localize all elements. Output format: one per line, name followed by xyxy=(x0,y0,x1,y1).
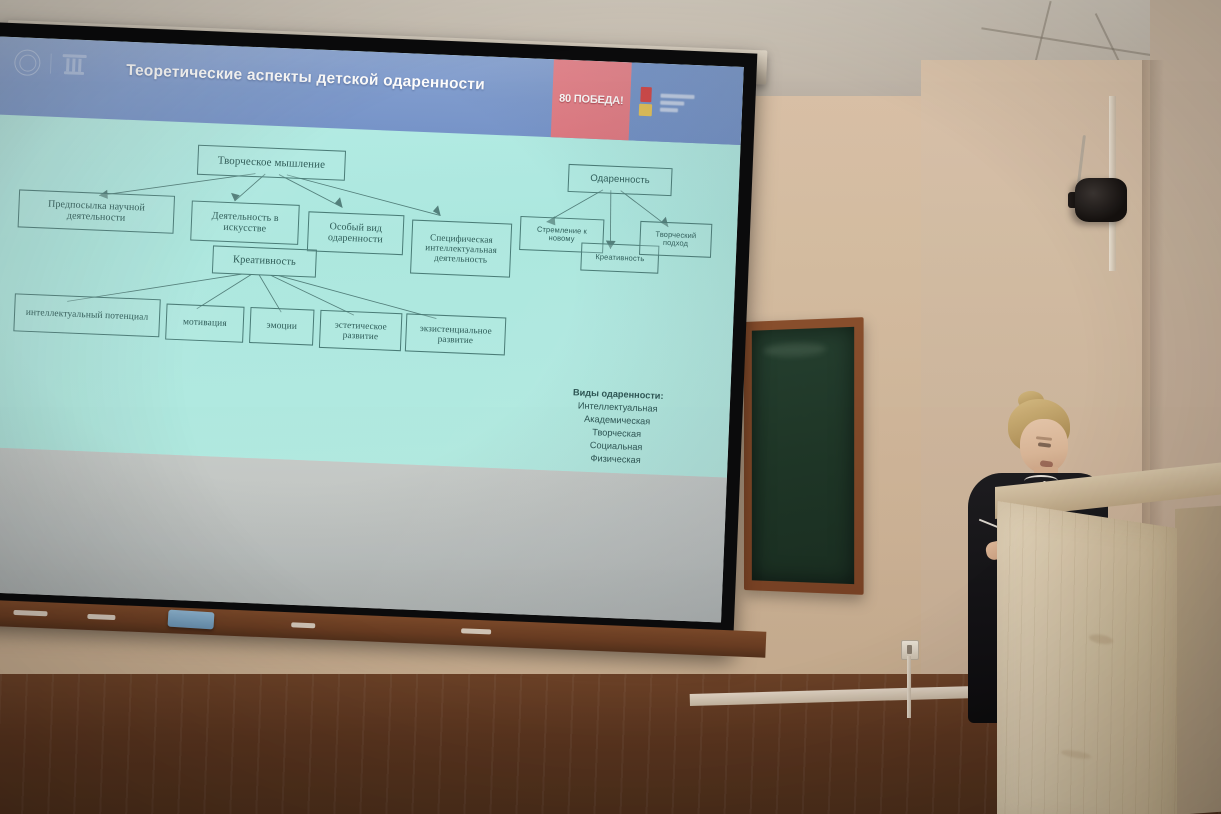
node-left-child-3[interactable]: Специфическая интеллектуальная деятельно… xyxy=(410,220,512,278)
node-bottom-child-1[interactable]: мотивация xyxy=(165,304,244,343)
victory-badge-label: 80 ПОБЕДА! xyxy=(559,92,624,107)
podium-side-panel xyxy=(1175,506,1221,814)
node-left-child-1[interactable]: Деятельность в искусстве xyxy=(190,201,300,245)
socket-conduit xyxy=(907,656,911,718)
chalkboard xyxy=(744,317,864,595)
giftedness-types-list: Виды одаренности: Интеллектуальная Акаде… xyxy=(540,385,693,469)
flag-icon xyxy=(638,87,655,118)
board-sponge[interactable] xyxy=(168,610,215,630)
node-giftedness[interactable]: Одаренность xyxy=(568,164,673,196)
node-right-child-2[interactable]: Творческий подход xyxy=(639,221,712,258)
slide-info-badge xyxy=(629,62,744,145)
slide-logos xyxy=(14,49,88,78)
node-creativity-root[interactable]: Креативность xyxy=(212,245,317,277)
projection-screen: Теоретические аспекты детской одаренност… xyxy=(0,22,757,653)
node-bottom-child-0[interactable]: интеллектуальный потенциал xyxy=(13,293,160,337)
screen-blank-area xyxy=(0,448,727,623)
node-bottom-child-2[interactable]: эмоции xyxy=(249,307,314,346)
slide-diagram: Творческое мышление Предпосылка научной … xyxy=(0,114,741,478)
victory-badge: 80 ПОБЕДА! xyxy=(551,59,632,140)
column-building-logo-icon xyxy=(61,52,88,77)
podium-front-panel xyxy=(997,501,1177,814)
info-badge-text-lines xyxy=(660,94,695,113)
university-seal-logo-icon xyxy=(14,49,41,76)
node-creative-thinking[interactable]: Творческое мышление xyxy=(197,145,346,181)
podium xyxy=(995,487,1221,814)
screen-label-sticker: ····· xyxy=(4,588,24,596)
node-left-child-0[interactable]: Предпосылка научной деятельности xyxy=(18,189,175,233)
node-bottom-child-4[interactable]: экзистенциальное развитие xyxy=(405,313,506,355)
wall-speaker-icon xyxy=(1075,178,1127,222)
lecture-hall-photo: Теоретические аспекты детской одаренност… xyxy=(0,0,1221,814)
node-bottom-child-3[interactable]: эстетическое развитие xyxy=(319,310,402,351)
node-left-child-2[interactable]: Особый вид одаренности xyxy=(307,211,405,255)
presentation-slide: Теоретические аспекты детской одаренност… xyxy=(0,36,744,478)
